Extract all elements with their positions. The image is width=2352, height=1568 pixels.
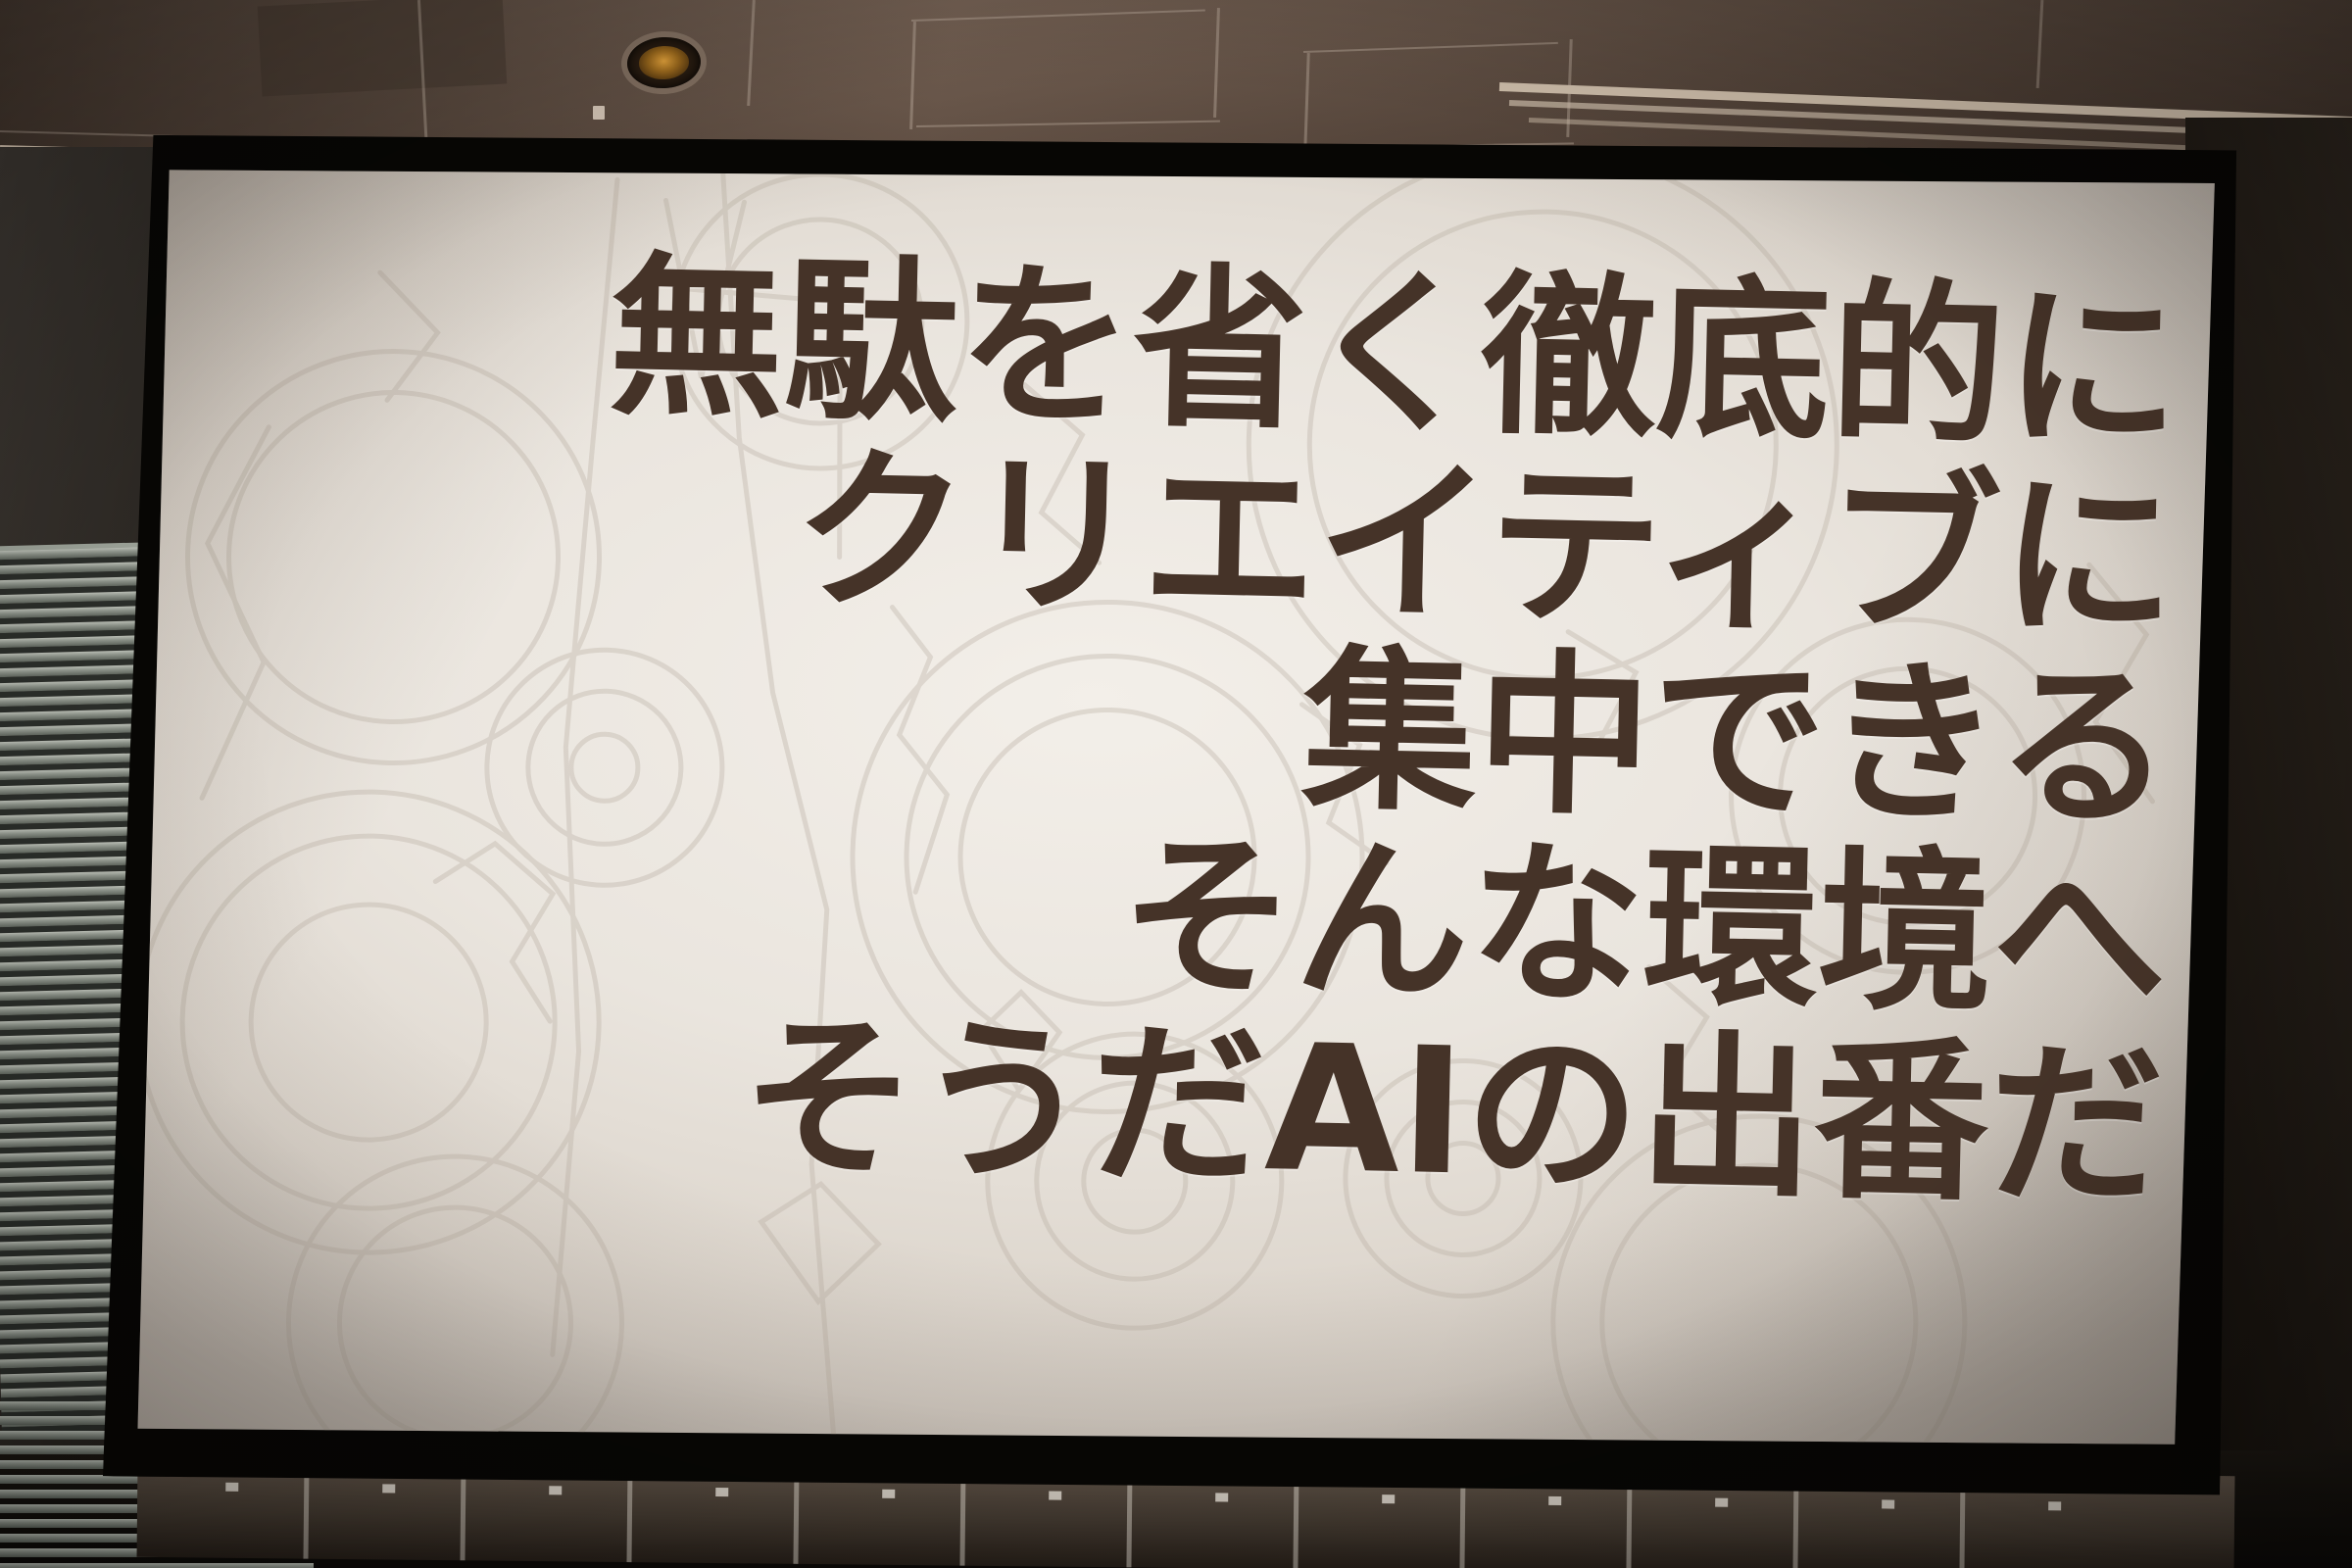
slide-line-2: クリエイティブに [488,433,2178,652]
panel-marker [382,1484,395,1493]
projection-screen: 無駄を省く徹底的に クリエイティブに 集中できる そんな環境へ そうだAIの出番… [129,130,2224,1479]
slide-line-1: 無駄を省く徹底的に [492,244,2181,463]
panel-marker [549,1486,562,1494]
slide-line-4: そんな環境へ [480,811,2170,1030]
slide-line-3: 集中できる [484,622,2174,841]
photo-scene: 無駄を省く徹底的に クリエイティブに 集中できる そんな環境へ そうだAIの出番… [0,0,2352,1568]
blind-slat [0,1563,314,1568]
panel-marker [225,1483,238,1492]
slide-text-block: 無駄を省く徹底的に クリエイティブに 集中できる そんな環境へ そうだAIの出番… [476,244,2181,1219]
slide-line-5: そうだAIの出番だ [476,1001,2166,1219]
projection-screen-assembly: 無駄を省く徹底的に クリエイティブに 集中できる そんな環境へ そうだAIの出番… [103,105,2249,1523]
